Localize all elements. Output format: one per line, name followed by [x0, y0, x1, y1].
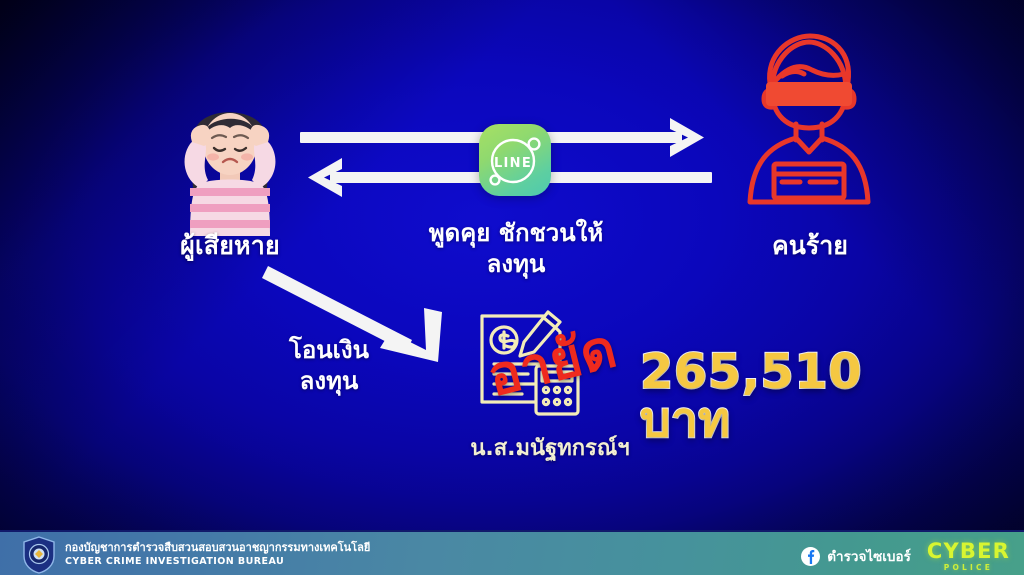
facebook-icon[interactable]	[801, 547, 820, 566]
footer-organization: กองบัญชาการตำรวจสืบสวนสอบสวนอาชญากรรมทาง…	[22, 536, 370, 574]
police-shield-emblem-icon	[22, 536, 56, 574]
line-app-icon[interactable]: LINE	[479, 124, 551, 196]
infographic-slide: ผู้เสียหาย	[0, 0, 1024, 575]
svg-text:LINE: LINE	[494, 156, 532, 171]
transfer-caption: โอนเงิน ลงทุน	[244, 335, 414, 397]
facebook-link[interactable]: ตำรวจไซเบอร์	[801, 545, 911, 567]
cyber-police-logo-sub: POLICE	[944, 564, 993, 572]
amount-value: 265,510 บาท	[640, 348, 950, 444]
footer-org-text: กองบัญชาการตำรวจสืบสวนสอบสวนอาชญากรรมทาง…	[65, 541, 370, 569]
footer-org-th: กองบัญชาการตำรวจสืบสวนสอบสวนอาชญากรรมทาง…	[65, 541, 370, 556]
footer-bar: กองบัญชาการตำรวจสืบสวนสอบสวนอาชญากรรมทาง…	[0, 530, 1024, 575]
cyber-police-logo: CYBER POLICE	[927, 541, 1010, 572]
victim-illustration	[150, 96, 310, 236]
transfer-caption-line2: ลงทุน	[300, 367, 359, 395]
criminal-label: คนร้าย	[700, 226, 920, 266]
conversation-caption-line1: พูดคุย ชักชวนให้	[429, 219, 603, 247]
footer-social: ตำรวจไซเบอร์ CYBER POLICE	[801, 541, 1010, 572]
cyber-police-logo-main: CYBER	[927, 541, 1010, 562]
account-name-label: น.ส.มนัฐทกรณ์ฯ	[430, 430, 670, 465]
criminal-illustration	[724, 24, 894, 224]
footer-org-en: CYBER CRIME INVESTIGATION BUREAU	[65, 556, 370, 569]
transfer-caption-line1: โอนเงิน	[289, 336, 369, 364]
facebook-label[interactable]: ตำรวจไซเบอร์	[827, 545, 911, 567]
victim-label: ผู้เสียหาย	[120, 226, 340, 266]
conversation-caption-line2: ลงทุน	[487, 250, 546, 278]
